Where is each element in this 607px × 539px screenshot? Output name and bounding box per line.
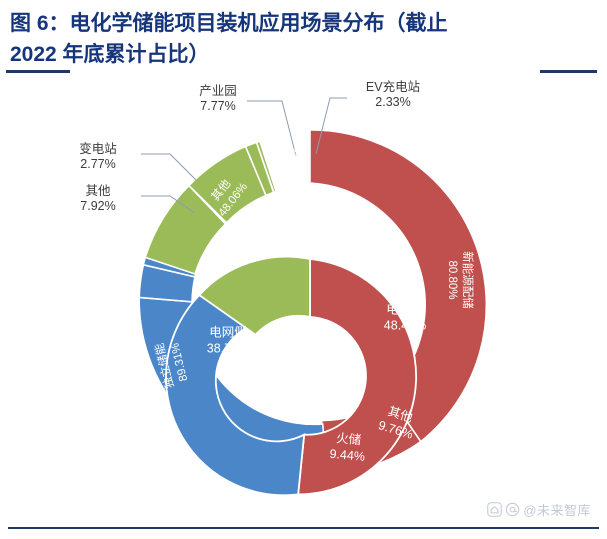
callout-substation-value: 2.77% xyxy=(60,157,136,172)
chart-page: 图 6：电化学储能项目装机应用场景分布（截止 2022 年底累计占比） xyxy=(0,0,607,539)
callout-industrial-park: 产业园 7.77% xyxy=(181,84,255,114)
callout-ev-charging-label: EV充电站 xyxy=(348,80,438,95)
label-renewable-storage-value: 80.80% xyxy=(446,260,458,299)
callout-ev-charging: EV充电站 2.33% xyxy=(348,80,438,110)
footer-rule xyxy=(8,527,599,529)
watermark: @未来智库 xyxy=(487,500,591,519)
callout-grid-other: 其他 7.92% xyxy=(60,184,136,214)
watermark-text: @未来智库 xyxy=(523,500,591,519)
house-logo-icon xyxy=(487,502,502,517)
donut-chart-svg: 电源侧 48.40% 电网侧 38.72% 用户侧 12.88% 新能源配储 8… xyxy=(0,72,607,512)
label-grid-side-value: 38.72% xyxy=(207,341,249,355)
callout-substation: 变电站 2.77% xyxy=(60,142,136,172)
page-title: 图 6：电化学储能项目装机应用场景分布（截止 2022 年底累计占比） xyxy=(10,8,590,70)
label-grid-side-name: 电网侧 xyxy=(209,325,247,339)
callout-ev-charging-value: 2.33% xyxy=(348,95,438,110)
inner-ring xyxy=(166,257,416,496)
at-sign-icon xyxy=(505,502,520,517)
callout-substation-label: 变电站 xyxy=(60,142,136,157)
label-renewable-storage-name: 新能源配储 xyxy=(461,251,475,309)
leader-substation xyxy=(141,154,196,180)
label-power-side-value: 48.40% xyxy=(384,318,426,332)
label-thermal-storage-name: 火储 xyxy=(336,430,362,447)
callout-grid-other-value: 7.92% xyxy=(60,199,136,214)
donut-chart: 电源侧 48.40% 电网侧 38.72% 用户侧 12.88% 新能源配储 8… xyxy=(0,72,607,512)
callout-industrial-park-value: 7.77% xyxy=(181,99,255,114)
label-power-side-name: 电源侧 xyxy=(386,302,424,316)
callout-industrial-park-label: 产业园 xyxy=(181,84,255,99)
callout-grid-other-label: 其他 xyxy=(60,184,136,199)
